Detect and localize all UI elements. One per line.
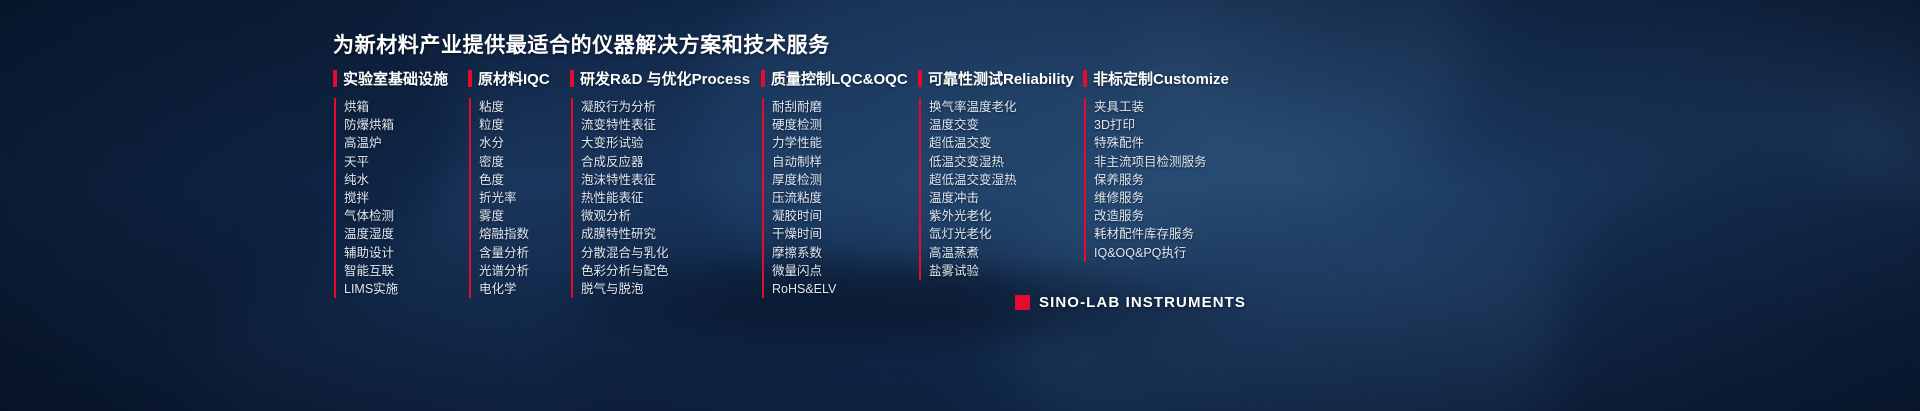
list-item[interactable]: 脱气与脱泡 [581,280,761,298]
page-title: 为新材料产业提供最适合的仪器解决方案和技术服务 [333,29,830,59]
list-item[interactable]: 成膜特性研究 [581,225,761,243]
list-item[interactable]: 超低温交变 [929,134,1083,152]
accent-bar-icon [918,70,922,87]
capability-columns: 实验室基础设施 烘箱 防爆烘箱 高温炉 天平 纯水 搅拌 气体检测 温度湿度 辅… [333,68,1253,298]
list-item[interactable]: 维修服务 [1094,189,1253,207]
list-item[interactable]: 水分 [479,134,570,152]
list-item[interactable]: 凝胶时间 [772,207,918,225]
column-title: 质量控制LQC&OQC [771,68,908,89]
column-item-list: 耐刮耐磨 硬度检测 力学性能 自动制样 厚度检测 压流粘度 凝胶时间 干燥时间 … [762,98,918,298]
list-item[interactable]: 纯水 [344,171,468,189]
list-item[interactable]: 非主流项目检测服务 [1094,153,1253,171]
list-item[interactable]: 合成反应器 [581,153,761,171]
list-item[interactable]: 微量闪点 [772,262,918,280]
column-header: 实验室基础设施 [333,68,468,88]
list-item[interactable]: 熔融指数 [479,225,570,243]
column-header: 可靠性测试Reliability [918,68,1083,88]
column-item-list: 夹具工装 3D打印 特殊配件 非主流项目检测服务 保养服务 维修服务 改造服务 … [1084,98,1253,262]
list-item[interactable]: LIMS实施 [344,280,468,298]
banner-content: 为新材料产业提供最适合的仪器解决方案和技术服务 实验室基础设施 烘箱 防爆烘箱 … [0,0,1920,411]
list-item[interactable]: 温度冲击 [929,189,1083,207]
accent-bar-icon [570,70,574,87]
list-item[interactable]: 热性能表征 [581,189,761,207]
list-item[interactable]: 电化学 [479,280,570,298]
list-item[interactable]: 雾度 [479,207,570,225]
list-item[interactable]: 厚度检测 [772,171,918,189]
list-item[interactable]: 温度交变 [929,116,1083,134]
list-item[interactable]: 氙灯光老化 [929,225,1083,243]
column-title: 实验室基础设施 [343,68,448,89]
list-item[interactable]: RoHS&ELV [772,280,918,298]
column-item-list: 烘箱 防爆烘箱 高温炉 天平 纯水 搅拌 气体检测 温度湿度 辅助设计 智能互联… [334,98,468,298]
list-item[interactable]: 耐刮耐磨 [772,98,918,116]
list-item[interactable]: 折光率 [479,189,570,207]
brand-logo: SINO-LAB INSTRUMENTS [1015,294,1246,311]
list-item[interactable]: 光谱分析 [479,262,570,280]
list-item[interactable]: 夹具工装 [1094,98,1253,116]
list-item[interactable]: 色彩分析与配色 [581,262,761,280]
list-item[interactable]: 盐雾试验 [929,262,1083,280]
list-item[interactable]: 力学性能 [772,134,918,152]
column-title: 原材料IQC [478,68,550,89]
list-item[interactable]: 大变形试验 [581,134,761,152]
accent-bar-icon [1083,70,1087,87]
column-item-list: 换气率温度老化 温度交变 超低温交变 低温交变湿热 超低温交变湿热 温度冲击 紫… [919,98,1083,280]
capability-column: 实验室基础设施 烘箱 防爆烘箱 高温炉 天平 纯水 搅拌 气体检测 温度湿度 辅… [333,68,468,298]
list-item[interactable]: 超低温交变湿热 [929,171,1083,189]
list-item[interactable]: 特殊配件 [1094,134,1253,152]
column-header: 质量控制LQC&OQC [761,68,918,88]
capability-column: 可靠性测试Reliability 换气率温度老化 温度交变 超低温交变 低温交变… [918,68,1083,298]
list-item[interactable]: 高温炉 [344,134,468,152]
accent-bar-icon [468,70,472,87]
list-item[interactable]: 3D打印 [1094,116,1253,134]
list-item[interactable]: 改造服务 [1094,207,1253,225]
list-item[interactable]: 高温蒸煮 [929,244,1083,262]
list-item[interactable]: 自动制样 [772,153,918,171]
logo-square-icon [1015,295,1030,310]
list-item[interactable]: 防爆烘箱 [344,116,468,134]
list-item[interactable]: 温度湿度 [344,225,468,243]
list-item[interactable]: 辅助设计 [344,244,468,262]
brand-name: SINO-LAB INSTRUMENTS [1039,294,1246,311]
list-item[interactable]: 色度 [479,171,570,189]
capability-column: 非标定制Customize 夹具工装 3D打印 特殊配件 非主流项目检测服务 保… [1083,68,1253,298]
column-header: 原材料IQC [468,68,570,88]
accent-bar-icon [333,70,337,87]
list-item[interactable]: 干燥时间 [772,225,918,243]
capability-column: 质量控制LQC&OQC 耐刮耐磨 硬度检测 力学性能 自动制样 厚度检测 压流粘… [761,68,918,298]
list-item[interactable]: 低温交变湿热 [929,153,1083,171]
list-item[interactable]: IQ&OQ&PQ执行 [1094,244,1253,262]
list-item[interactable]: 耗材配件库存服务 [1094,225,1253,243]
column-title: 可靠性测试Reliability [928,68,1074,89]
list-item[interactable]: 凝胶行为分析 [581,98,761,116]
list-item[interactable]: 天平 [344,153,468,171]
list-item[interactable]: 硬度检测 [772,116,918,134]
list-item[interactable]: 微观分析 [581,207,761,225]
column-item-list: 粘度 粒度 水分 密度 色度 折光率 雾度 熔融指数 含量分析 光谱分析 电化学 [469,98,570,298]
list-item[interactable]: 换气率温度老化 [929,98,1083,116]
column-title: 非标定制Customize [1093,68,1229,89]
capability-column: 原材料IQC 粘度 粒度 水分 密度 色度 折光率 雾度 熔融指数 含量分析 光… [468,68,570,298]
list-item[interactable]: 流变特性表征 [581,116,761,134]
list-item[interactable]: 泡沫特性表征 [581,171,761,189]
column-header: 研发R&D 与优化Process [570,68,761,88]
list-item[interactable]: 保养服务 [1094,171,1253,189]
list-item[interactable]: 压流粘度 [772,189,918,207]
accent-bar-icon [761,70,765,87]
list-item[interactable]: 分散混合与乳化 [581,244,761,262]
list-item[interactable]: 搅拌 [344,189,468,207]
column-title: 研发R&D 与优化Process [580,68,750,89]
list-item[interactable]: 含量分析 [479,244,570,262]
column-header: 非标定制Customize [1083,68,1253,88]
list-item[interactable]: 气体检测 [344,207,468,225]
list-item[interactable]: 密度 [479,153,570,171]
list-item[interactable]: 粘度 [479,98,570,116]
list-item[interactable]: 粒度 [479,116,570,134]
list-item[interactable]: 智能互联 [344,262,468,280]
list-item[interactable]: 摩擦系数 [772,244,918,262]
capability-column: 研发R&D 与优化Process 凝胶行为分析 流变特性表征 大变形试验 合成反… [570,68,761,298]
list-item[interactable]: 紫外光老化 [929,207,1083,225]
list-item[interactable]: 烘箱 [344,98,468,116]
column-item-list: 凝胶行为分析 流变特性表征 大变形试验 合成反应器 泡沫特性表征 热性能表征 微… [571,98,761,298]
